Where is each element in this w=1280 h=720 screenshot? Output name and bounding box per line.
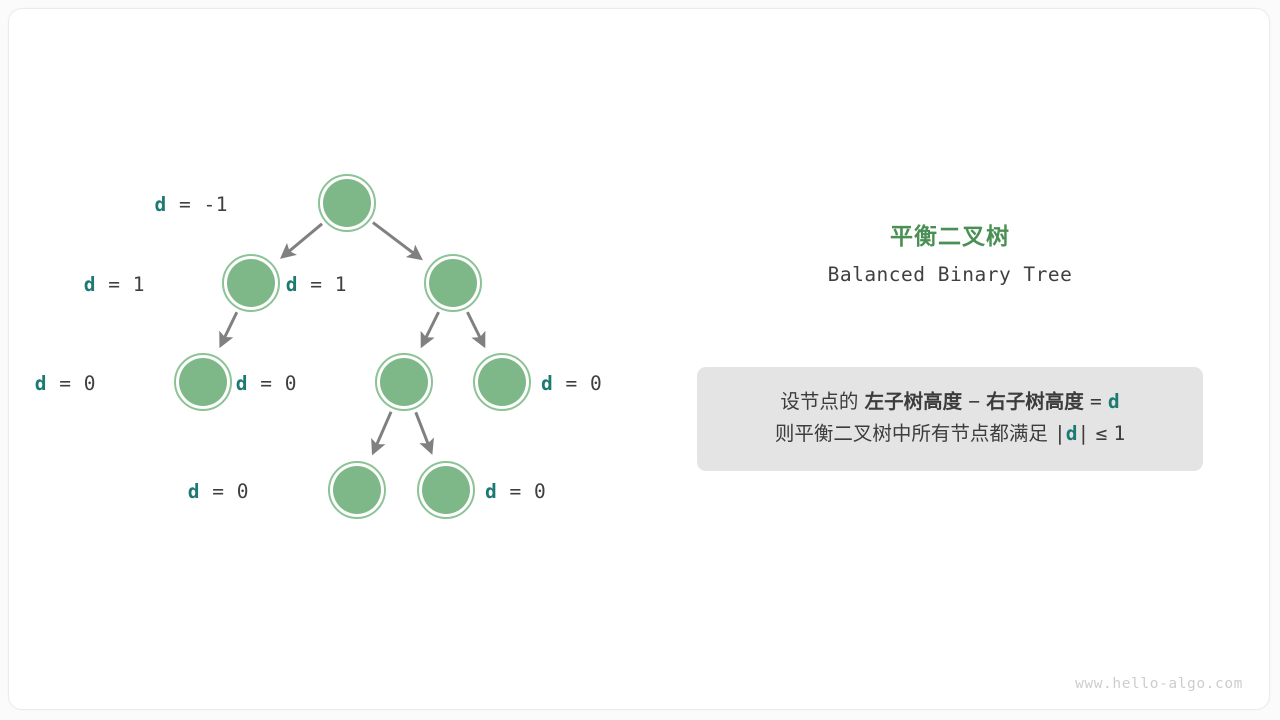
- label-value: = 0: [47, 372, 96, 395]
- definition-prefix: 设节点的: [780, 390, 858, 413]
- label-variable-d: d: [155, 193, 167, 216]
- tree-edge: [221, 312, 237, 345]
- condition-prefix: 则平衡二叉树中所有节点都满足: [775, 422, 1048, 445]
- label-variable-d: d: [84, 273, 96, 296]
- label-variable-d: d: [485, 480, 497, 503]
- abs-bar-close: |: [1078, 422, 1090, 445]
- tree-node: [376, 354, 432, 410]
- label-variable-d: d: [236, 372, 248, 395]
- label-value: = 0: [497, 480, 546, 503]
- less-equal-operator: ≤: [1095, 422, 1107, 445]
- condition-value: 1: [1113, 422, 1125, 445]
- node-balance-label: d = 0: [35, 374, 96, 394]
- node-balance-label: d = 0: [236, 374, 297, 394]
- label-variable-d: d: [286, 273, 298, 296]
- tree-edge: [416, 412, 431, 451]
- label-value: = 1: [96, 273, 145, 296]
- definition-info-box: 设节点的 左子树高度 − 右子树高度 = d 则平衡二叉树中所有节点都满足 |d…: [697, 367, 1203, 471]
- binary-tree-graphic: [0, 0, 1280, 720]
- tree-edge: [282, 224, 322, 257]
- node-circle: [227, 259, 275, 307]
- term-right-subtree-height: 右子树高度: [986, 390, 1084, 413]
- tree-node: [425, 255, 481, 311]
- tree-node: [223, 255, 279, 311]
- node-balance-label: d = -1: [155, 195, 228, 215]
- watermark: www.hello-algo.com: [1075, 676, 1243, 692]
- node-balance-label: d = 0: [485, 482, 546, 502]
- tree-node: [329, 462, 385, 518]
- definition-line-2: 则平衡二叉树中所有节点都满足 |d| ≤ 1: [697, 418, 1203, 450]
- node-circle: [380, 358, 428, 406]
- page-subtitle: Balanced Binary Tree: [697, 263, 1203, 286]
- label-value: = -1: [167, 193, 228, 216]
- node-balance-label: d = 1: [286, 275, 347, 295]
- tree-node: [319, 175, 375, 231]
- page-title: 平衡二叉树: [697, 224, 1203, 252]
- node-circle: [333, 466, 381, 514]
- definition-line-1: 设节点的 左子树高度 − 右子树高度 = d: [697, 386, 1203, 418]
- node-circle: [478, 358, 526, 406]
- label-value: = 0: [248, 372, 297, 395]
- tree-edge: [373, 412, 391, 453]
- diagram-canvas: d = -1d = 1d = 1d = 0d = 0d = 0d = 0d = …: [0, 0, 1280, 720]
- equals-operator: =: [1090, 390, 1102, 413]
- variable-d-abs: d: [1066, 422, 1078, 445]
- label-variable-d: d: [35, 372, 47, 395]
- node-circle: [179, 358, 227, 406]
- node-balance-label: d = 1: [84, 275, 145, 295]
- tree-node: [474, 354, 530, 410]
- node-circle: [323, 179, 371, 227]
- label-variable-d: d: [188, 480, 200, 503]
- tree-nodes: [175, 175, 530, 518]
- node-circle: [429, 259, 477, 307]
- label-value: = 1: [298, 273, 347, 296]
- right-panel: 平衡二叉树 Balanced Binary Tree: [697, 224, 1203, 286]
- label-value: = 0: [553, 372, 602, 395]
- node-circle: [422, 466, 470, 514]
- tree-edge: [422, 312, 438, 345]
- tree-edge: [373, 223, 420, 259]
- abs-bar-open: |: [1054, 422, 1066, 445]
- variable-d: d: [1108, 390, 1120, 413]
- tree-node: [418, 462, 474, 518]
- node-balance-label: d = 0: [188, 482, 249, 502]
- term-left-subtree-height: 左子树高度: [865, 390, 963, 413]
- minus-operator: −: [968, 390, 980, 413]
- label-variable-d: d: [541, 372, 553, 395]
- tree-node: [175, 354, 231, 410]
- node-balance-label: d = 0: [541, 374, 602, 394]
- label-value: = 0: [200, 480, 249, 503]
- tree-edge: [467, 312, 483, 345]
